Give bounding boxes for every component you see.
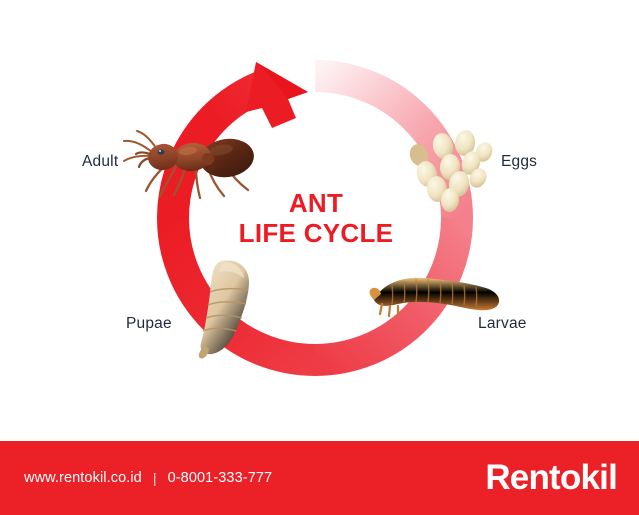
stage-label-adult: Adult bbox=[82, 153, 118, 171]
footer-website[interactable]: www.rentokil.co.id bbox=[24, 470, 142, 486]
stage-label-larvae: Larvae bbox=[478, 315, 527, 333]
stage-label-pupae: Pupae bbox=[126, 315, 172, 333]
cycle-arrow-head-icon bbox=[246, 62, 308, 128]
footer-separator: | bbox=[153, 470, 157, 486]
footer-bar: www.rentokil.co.id | 0-8001-333-777 Rent… bbox=[0, 441, 639, 515]
footer-phone[interactable]: 0-8001-333-777 bbox=[168, 470, 273, 486]
page-title: ANT LIFE CYCLE bbox=[196, 189, 436, 248]
stage-label-eggs: Eggs bbox=[501, 153, 537, 171]
title-line-1: ANT bbox=[196, 189, 436, 219]
title-line-2: LIFE CYCLE bbox=[196, 219, 436, 249]
ant-life-cycle-infographic: ANT LIFE CYCLE Adult Eggs Larvae Pupae w… bbox=[0, 0, 639, 515]
diagram-canvas: ANT LIFE CYCLE Adult Eggs Larvae Pupae bbox=[0, 0, 639, 441]
footer-contact-info: www.rentokil.co.id | 0-8001-333-777 bbox=[24, 470, 272, 486]
rentokil-logo: Rentokil bbox=[485, 458, 617, 498]
